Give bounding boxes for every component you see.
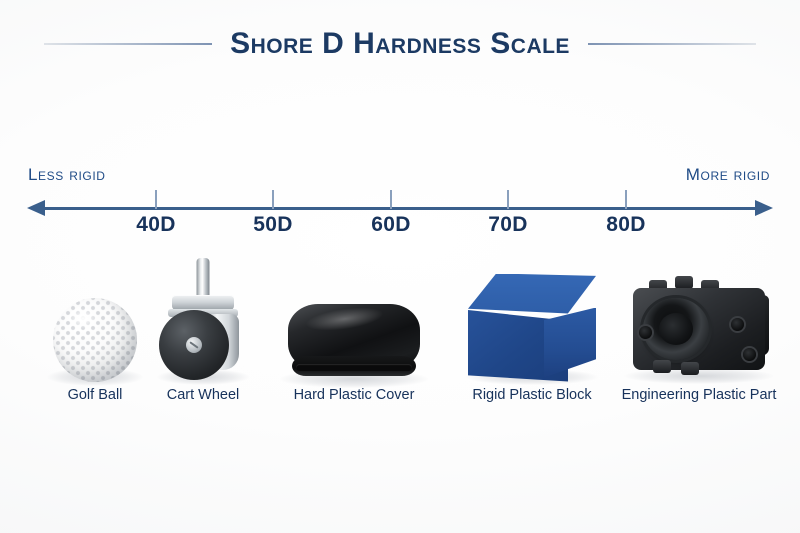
scale-item-label-hard-plastic-cover: Hard Plastic Cover: [294, 388, 415, 403]
part-tooth: [675, 276, 693, 289]
scale-item-label-golf-ball: Golf Ball: [68, 388, 123, 403]
part-tooth: [653, 360, 671, 373]
golf-ball-dimples: [53, 298, 137, 382]
arrow-right-icon: [755, 200, 773, 216]
axis-tick-70d: [507, 190, 509, 209]
part-tooth: [681, 362, 699, 375]
golf-ball-illustration: [53, 266, 137, 382]
machined-part-icon: [623, 274, 775, 382]
caster-tire: [159, 310, 229, 380]
scale-item-label-cart-wheel: Cart Wheel: [167, 388, 240, 403]
scale-item-rigid-plastic-block: Rigid Plastic Block: [452, 262, 612, 402]
axis-tick-label-80d: 80D: [606, 214, 645, 235]
axis-tick-label-60d: 60D: [371, 214, 410, 235]
page-title-row: Shore D Hardness Scale: [0, 26, 800, 62]
scale-item-cart-wheel: Cart Wheel: [148, 238, 258, 402]
axis-tick-label-70d: 70D: [488, 214, 527, 235]
scale-item-label-engineering-plastic-part: Engineering Plastic Part: [622, 388, 777, 403]
hard-plastic-cover-icon: [288, 304, 420, 382]
part-bolt-hole: [743, 348, 756, 361]
axis-tick-40d: [155, 190, 157, 209]
title-divider-right: [588, 43, 756, 45]
cover-rim: [296, 364, 412, 371]
scale-less-rigid-label: Less rigid: [28, 166, 106, 183]
axis-tick-80d: [625, 190, 627, 209]
golf-ball-icon: [53, 298, 137, 382]
caster-stem: [197, 258, 210, 298]
axis-tick-label-50d: 50D: [253, 214, 292, 235]
caster-top-plate: [172, 295, 234, 310]
caster-wheel-icon: [157, 258, 249, 382]
part-bolt-hole: [639, 326, 652, 339]
blue-cube-icon: [468, 274, 596, 382]
title-divider-left: [44, 43, 212, 45]
scale-item-label-rigid-plastic-block: Rigid Plastic Block: [472, 388, 591, 403]
scale-item-hard-plastic-cover: Hard Plastic Cover: [274, 284, 434, 402]
cover-highlight: [305, 304, 384, 334]
part-bore-ring: [643, 298, 709, 360]
scale-item-engineering-plastic-part: Engineering Plastic Part: [611, 262, 787, 402]
caster-hub-bolt: [186, 337, 202, 353]
cube-top-face: [468, 274, 596, 314]
hard-plastic-cover-illustration: [288, 288, 420, 382]
cart-wheel-illustration: [157, 242, 249, 382]
scale-more-rigid-label: More rigid: [686, 166, 770, 183]
engineering-plastic-part-illustration: [623, 266, 775, 382]
arrow-left-icon: [27, 200, 45, 216]
cube-side-face: [544, 308, 596, 378]
axis-tick-50d: [272, 190, 274, 209]
rigid-plastic-block-illustration: [468, 266, 596, 382]
axis-tick-60d: [390, 190, 392, 209]
part-bore-hole: [659, 313, 693, 345]
part-bolt-hole: [731, 318, 744, 331]
infographic-canvas: Shore D Hardness Scale Less rigid More r…: [0, 0, 800, 533]
hardness-axis: 40D 50D 60D 70D 80D: [0, 190, 800, 242]
axis-line: [42, 207, 758, 210]
axis-tick-label-40d: 40D: [136, 214, 175, 235]
page-title: Shore D Hardness Scale: [230, 29, 570, 59]
scale-item-golf-ball: Golf Ball: [35, 262, 155, 402]
